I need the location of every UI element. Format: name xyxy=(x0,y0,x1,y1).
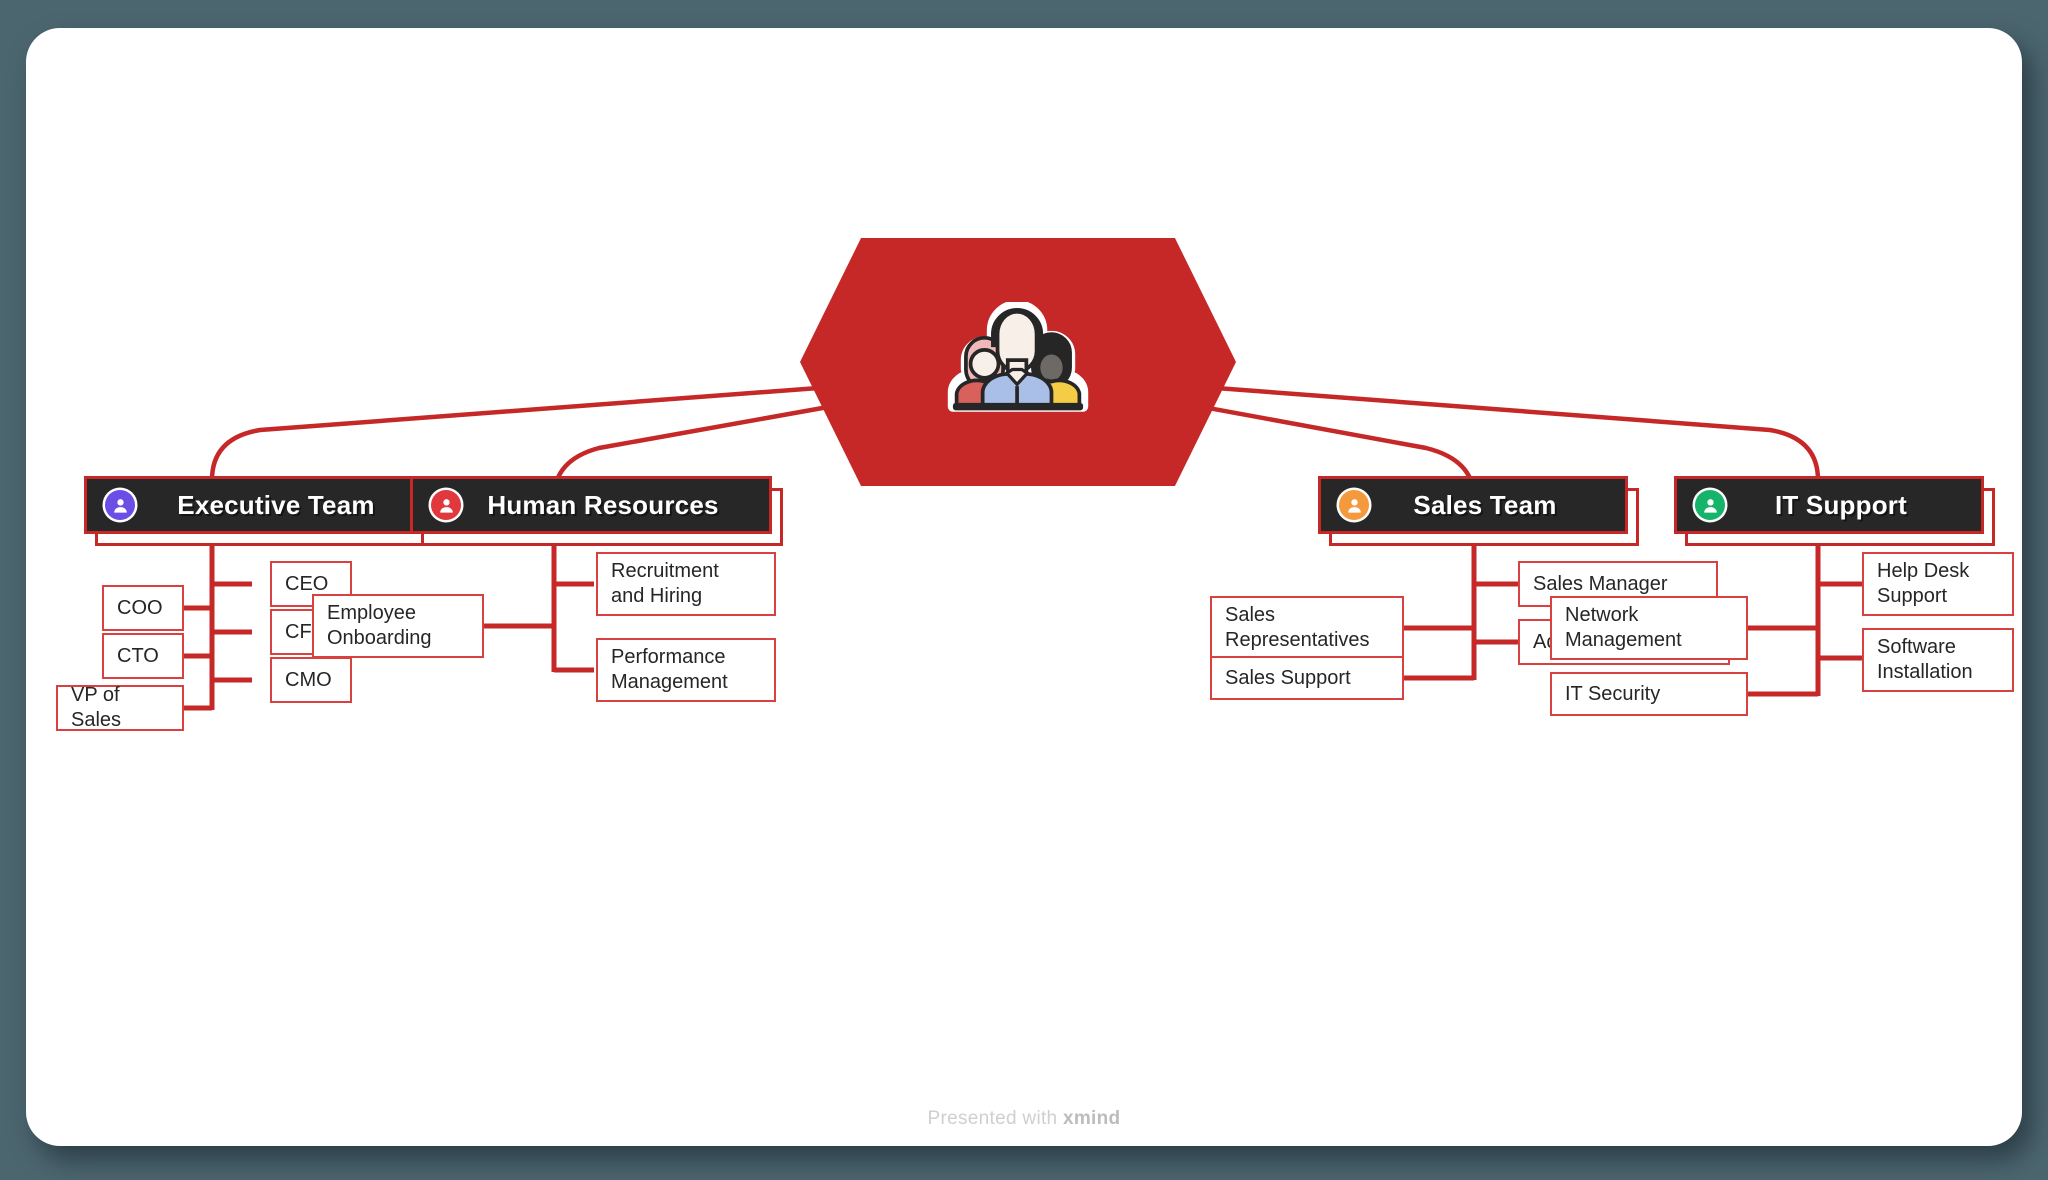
leaf-network-management[interactable]: Network Management xyxy=(1550,596,1748,660)
leaf-help-desk-support[interactable]: Help Desk Support xyxy=(1862,552,2014,616)
leaf-recruitment-and-hiring[interactable]: Recruitment and Hiring xyxy=(596,552,776,616)
branch-sales-team: Sales Team xyxy=(1318,476,1628,534)
leaf-performance-management[interactable]: Performance Management xyxy=(596,638,776,702)
leaf-coo[interactable]: COO xyxy=(102,585,184,631)
branch-executive-team: Executive Team xyxy=(84,476,444,534)
slide-card: Executive Team CEO COO CFO CTO CMO VP of… xyxy=(26,28,2022,1146)
person-circle-icon xyxy=(105,490,135,520)
leaf-software-installation[interactable]: Software Installation xyxy=(1862,628,2014,692)
leaf-employee-onboarding[interactable]: Employee Onboarding xyxy=(312,594,484,658)
person-circle-icon xyxy=(431,490,461,520)
leaf-sales-representatives[interactable]: Sales Representatives xyxy=(1210,596,1404,660)
leaf-cmo[interactable]: CMO xyxy=(270,657,352,703)
person-circle-icon xyxy=(1695,490,1725,520)
mindmap-canvas: Executive Team CEO COO CFO CTO CMO VP of… xyxy=(0,0,2048,1180)
footer-prefix: Presented with xyxy=(928,1108,1063,1129)
person-circle-icon xyxy=(1339,490,1369,520)
leaf-it-security[interactable]: IT Security xyxy=(1550,672,1748,716)
root-node[interactable] xyxy=(800,238,1236,486)
branch-human-resources: Human Resources xyxy=(410,476,772,534)
footer-attribution: Presented with xmind xyxy=(26,1108,2022,1130)
node-title: Human Resources xyxy=(475,490,751,521)
branch-it-support: IT Support xyxy=(1674,476,1984,534)
leaf-vp-of-sales[interactable]: VP of Sales xyxy=(56,685,184,731)
node-header-it-support[interactable]: IT Support xyxy=(1674,476,1984,534)
leaf-cto[interactable]: CTO xyxy=(102,633,184,679)
node-header-human-resources[interactable]: Human Resources xyxy=(410,476,772,534)
node-title: Sales Team xyxy=(1383,490,1607,521)
node-title: IT Support xyxy=(1739,490,1963,521)
node-title: Executive Team xyxy=(149,490,423,521)
node-header-sales-team[interactable]: Sales Team xyxy=(1318,476,1628,534)
node-header-executive-team[interactable]: Executive Team xyxy=(84,476,444,534)
xmind-brand: xmind xyxy=(1063,1108,1120,1129)
leaf-sales-support[interactable]: Sales Support xyxy=(1210,656,1404,700)
team-people-icon xyxy=(925,302,1111,422)
